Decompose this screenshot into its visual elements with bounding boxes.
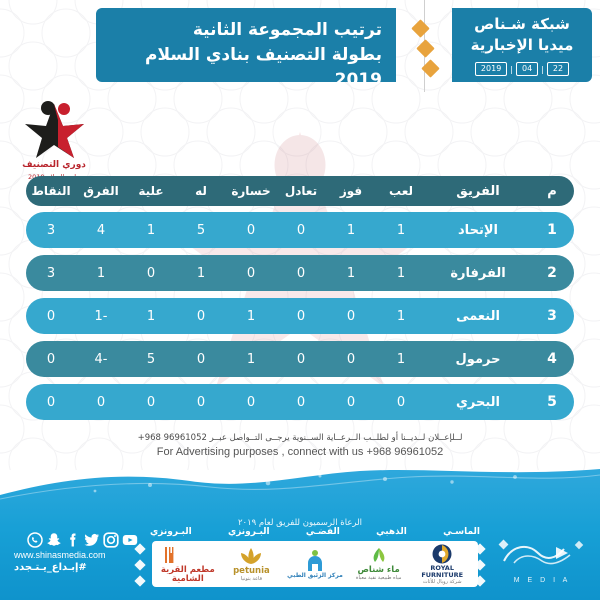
medical-center-icon xyxy=(301,549,329,573)
sponsor-name: ROYAL FURNITURE xyxy=(412,565,472,579)
cell-diff: 4 xyxy=(76,223,126,238)
facebook-icon[interactable] xyxy=(65,532,81,548)
cell-draw: 0 xyxy=(276,266,326,281)
column-header-team: الفريق xyxy=(426,184,530,199)
cell-for: 0 xyxy=(176,395,226,410)
cell-win: 1 xyxy=(326,266,376,281)
table-row: 1 الإتحاد 1 1 0 0 5 1 4 3 xyxy=(26,212,574,248)
column-header-for: له xyxy=(176,184,226,198)
date-month: 04 xyxy=(516,62,538,76)
cell-team: الإتحاد xyxy=(426,223,530,238)
social-block: www.shinasmedia.com #إبـداع_يـتـجدد xyxy=(14,532,138,573)
cell-rank: 5 xyxy=(530,394,574,410)
cell-rank: 3 xyxy=(530,308,574,324)
cell-points: 0 xyxy=(26,352,76,367)
lotus-flower-icon xyxy=(234,545,268,567)
cell-draw: 0 xyxy=(276,309,326,324)
sponsor-subtitle: شركة رويال للأثاث xyxy=(423,580,462,585)
date-separator: | xyxy=(541,65,544,74)
column-header-played: لعب xyxy=(376,184,426,198)
cell-diff: 0 xyxy=(76,395,126,410)
column-header-loss: خسارة xyxy=(226,184,276,198)
sponsor-name: مركز الزئبق الطبي xyxy=(287,573,343,579)
tournament-logo: دوري التصنيف بنادي السلام 2019 xyxy=(10,98,98,184)
hashtag-slogan: #إبـداع_يـتـجدد xyxy=(14,562,138,573)
diamond-icon xyxy=(411,19,429,37)
water-leaf-icon xyxy=(366,546,392,566)
sponsor-logo[interactable]: ماء شناص مياه طبيعية نقية معبأة xyxy=(349,543,409,585)
cell-against: 1 xyxy=(126,309,176,324)
shinas-media-logo-icon xyxy=(494,533,590,573)
tournament-star-icon xyxy=(10,98,98,164)
cell-for: 5 xyxy=(176,223,226,238)
tier-label-diamond: الماسـي xyxy=(443,527,480,541)
cell-played: 1 xyxy=(376,223,426,238)
column-header-draw: تعادل xyxy=(276,184,326,198)
title-line-1: ترتيب المجموعة الثانية xyxy=(108,18,382,43)
whatsapp-icon[interactable] xyxy=(27,532,43,548)
cell-for: 1 xyxy=(176,266,226,281)
cell-diff: -4 xyxy=(76,352,126,367)
column-header-win: فوز xyxy=(326,184,376,198)
snapchat-icon[interactable] xyxy=(46,532,62,548)
cell-against: 0 xyxy=(126,395,176,410)
page-header: ترتيب المجموعة الثانية بطولة التصنيف بنا… xyxy=(0,0,600,90)
cell-for: 0 xyxy=(176,309,226,324)
cell-draw: 0 xyxy=(276,395,326,410)
sponsor-logo[interactable]: petunia قاعة بتونيا xyxy=(221,543,281,585)
cell-loss: 1 xyxy=(226,352,276,367)
royal-furniture-icon xyxy=(429,543,455,565)
sponsor-name: مطعم القرية الشامية xyxy=(158,566,218,584)
cell-points: 0 xyxy=(26,395,76,410)
tournament-caption-1: دوري التصنيف xyxy=(10,160,98,170)
column-header-against: علية xyxy=(126,184,176,198)
restaurant-fork-icon xyxy=(163,544,213,566)
cell-draw: 0 xyxy=(276,352,326,367)
table-row: 4 حرمول 1 0 0 1 0 5 -4 0 xyxy=(26,341,574,377)
sponsor-logo[interactable]: مركز الزئبق الطبي xyxy=(285,543,345,585)
cell-points: 0 xyxy=(26,309,76,324)
cell-for: 0 xyxy=(176,352,226,367)
cell-loss: 1 xyxy=(226,309,276,324)
date-year: 2019 xyxy=(475,62,507,76)
media-logo: M E D I A xyxy=(494,533,590,585)
table-row: 2 الفرفارة 1 1 0 0 1 0 1 3 xyxy=(26,255,574,291)
diamond-icon xyxy=(416,39,434,57)
cell-team: حرمول xyxy=(426,352,530,367)
diamond-icon xyxy=(134,575,145,586)
brand-panel: شبكة شـناص ميديا الإخبارية 2019 | 04 | 2… xyxy=(452,8,592,82)
cell-win: 0 xyxy=(326,309,376,324)
table-header-row: م الفريق لعب فوز تعادل خسارة له علية الف… xyxy=(26,176,574,206)
cell-team: النعمى xyxy=(426,309,530,324)
advert-block: لــلإعــلان لــديــنا أو لطلــب الــرعــ… xyxy=(0,432,600,458)
column-header-rank: م xyxy=(530,184,574,199)
cell-rank: 1 xyxy=(530,222,574,238)
cell-played: 0 xyxy=(376,395,426,410)
standings-table: م الفريق لعب فوز تعادل خسارة له علية الف… xyxy=(26,176,574,427)
tier-label-silver: الفضـي xyxy=(306,527,340,541)
tier-label-bronze: البـرونزي xyxy=(150,527,192,541)
sponsor-name: petunia xyxy=(233,567,270,576)
sponsor-tier-labels: الماسـي الذهبي الفضـي البـرونزي البـرونز… xyxy=(150,527,480,541)
date-day: 22 xyxy=(547,62,569,76)
advert-text-arabic: لــلإعــلان لــديــنا أو لطلــب الــرعــ… xyxy=(0,432,600,445)
sponsor-subtitle: قاعة بتونيا xyxy=(241,577,262,582)
date-separator: | xyxy=(510,65,513,74)
cell-team: البحري xyxy=(426,395,530,410)
youtube-icon[interactable] xyxy=(122,532,138,548)
cell-loss: 0 xyxy=(226,395,276,410)
brand-line-2: ميديا الإخبارية xyxy=(452,36,592,54)
cell-played: 1 xyxy=(376,309,426,324)
cell-diff: -1 xyxy=(76,309,126,324)
brand-line-1: شبكة شـناص xyxy=(452,15,592,33)
sponsor-subtitle: مياه طبيعية نقية معبأة xyxy=(356,576,402,581)
cell-against: 0 xyxy=(126,266,176,281)
poster-root: ترتيب المجموعة الثانية بطولة التصنيف بنا… xyxy=(0,0,600,600)
sponsor-logo[interactable]: مطعم القرية الشامية xyxy=(158,543,218,585)
table-row: 5 البحري 0 0 0 0 0 0 0 0 xyxy=(26,384,574,420)
media-logo-subtitle: M E D I A xyxy=(494,577,590,584)
tier-label-bronze: البـرونزي xyxy=(228,527,270,541)
cell-loss: 0 xyxy=(226,223,276,238)
sponsor-name: ماء شناص xyxy=(358,566,400,575)
sponsor-logo[interactable]: ROYAL FURNITURE شركة رويال للأثاث xyxy=(412,543,472,585)
cell-diff: 1 xyxy=(76,266,126,281)
cell-played: 1 xyxy=(376,352,426,367)
header-title-panel: ترتيب المجموعة الثانية بطولة التصنيف بنا… xyxy=(96,8,396,82)
diamond-ribbon xyxy=(398,0,454,92)
cell-against: 5 xyxy=(126,352,176,367)
cell-played: 1 xyxy=(376,266,426,281)
cell-points: 3 xyxy=(26,266,76,281)
cell-win: 0 xyxy=(326,352,376,367)
instagram-icon[interactable] xyxy=(103,532,119,548)
publish-date: 2019 | 04 | 22 xyxy=(452,62,592,76)
cell-against: 1 xyxy=(126,223,176,238)
cell-draw: 0 xyxy=(276,223,326,238)
column-header-points: النقاط xyxy=(26,184,76,198)
table-row: 3 النعمى 1 0 0 1 0 1 -1 0 xyxy=(26,298,574,334)
advert-text-english: For Advertising purposes , connect with … xyxy=(0,446,600,458)
website-url[interactable]: www.shinasmedia.com xyxy=(14,550,138,560)
cell-rank: 4 xyxy=(530,351,574,367)
cell-team: الفرفارة xyxy=(426,266,530,281)
cell-win: 1 xyxy=(326,223,376,238)
cell-win: 0 xyxy=(326,395,376,410)
tier-label-gold: الذهبي xyxy=(376,527,407,541)
cell-rank: 2 xyxy=(530,265,574,281)
cell-points: 3 xyxy=(26,223,76,238)
cell-loss: 0 xyxy=(226,266,276,281)
sponsor-logo-bar: مطعم القرية الشامية petunia قاعة بتونيا … xyxy=(152,541,478,587)
social-icons xyxy=(14,532,138,548)
title-line-2: بطولة التصنيف بنادي السلام 2019 xyxy=(108,43,382,93)
twitter-icon[interactable] xyxy=(84,532,100,548)
page-title: ترتيب المجموعة الثانية بطولة التصنيف بنا… xyxy=(108,18,382,93)
column-header-diff: الفرق xyxy=(76,184,126,198)
